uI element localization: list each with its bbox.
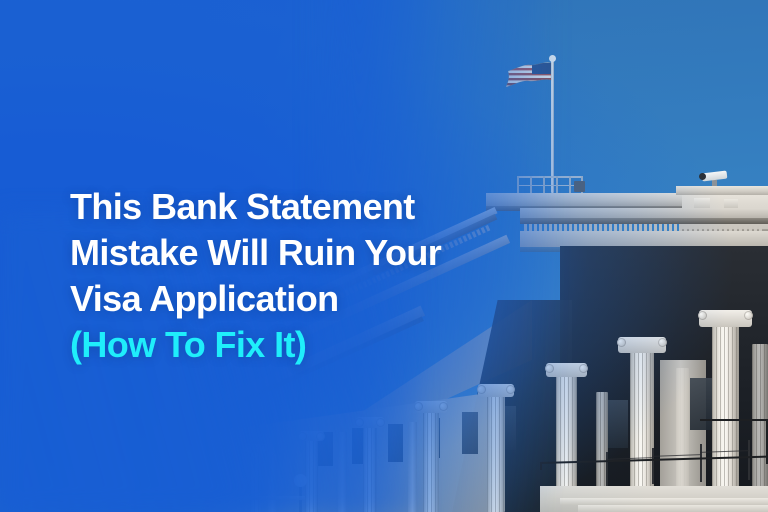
- hero-headline: This Bank Statement Mistake Will Ruin Yo…: [70, 184, 500, 368]
- headline-line-1: This Bank Statement: [70, 184, 500, 230]
- headline-line-2: Mistake Will Ruin Your: [70, 230, 500, 276]
- headline-line-3: Visa Application: [70, 276, 500, 322]
- headline-accent-line: (How To Fix It): [70, 322, 500, 368]
- blog-hero-banner: THE TREASURY DEPARTMENT: [0, 0, 768, 512]
